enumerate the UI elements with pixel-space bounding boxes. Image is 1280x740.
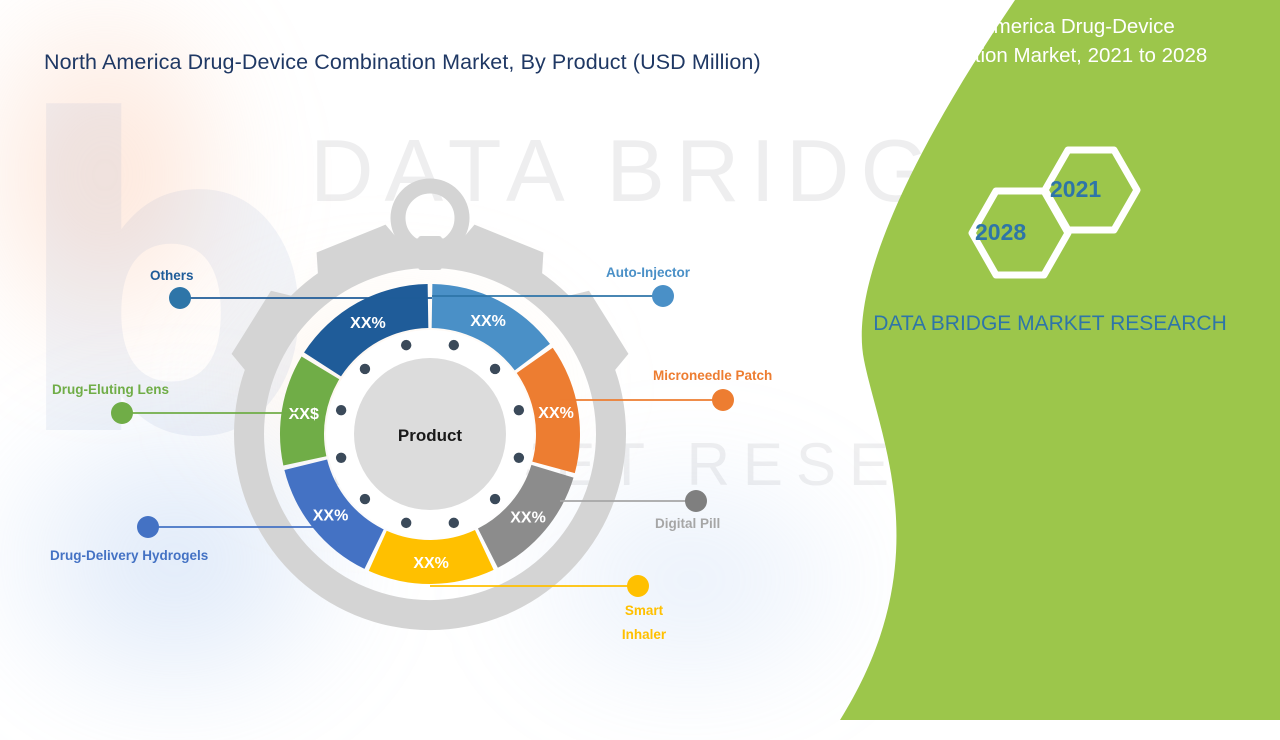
callout-label-others: Others <box>150 268 194 283</box>
segment-value-auto-injector: XX% <box>470 313 506 330</box>
donut-chart-svg: XX%XX%XX%XX%XX%XX$XX% Product <box>180 170 680 650</box>
dial-tick-dot <box>449 518 459 528</box>
dial-tick-dot <box>336 405 346 415</box>
segment-value-microneedle-patch: XX% <box>538 405 574 422</box>
callout-dot-microneedle <box>712 389 734 411</box>
callout-label-smart-inhaler-line1: Smart <box>604 603 684 618</box>
segment-value-others: XX% <box>350 315 386 332</box>
page-title: North America Drug-Device Combination Ma… <box>44 50 864 75</box>
callout-dot-digital-pill <box>685 490 707 512</box>
green-panel-title: North America Drug-Device Combination Ma… <box>870 12 1230 70</box>
segment-value-smart-inhaler: XX% <box>413 555 449 572</box>
callout-label-auto-injector: Auto-Injector <box>606 265 690 280</box>
dial-tick-dot <box>514 453 524 463</box>
hexagon-label-2021: 2021 <box>1050 176 1101 203</box>
dial-tick-dot <box>401 340 411 350</box>
dial-tick-dot <box>514 405 524 415</box>
callout-label-drug-eluting-lens: Drug-Eluting Lens <box>52 382 169 397</box>
green-panel-brand: DATA BRIDGE MARKET RESEARCH <box>870 308 1230 340</box>
dial-tick-dot <box>490 364 500 374</box>
dial-tick-dot <box>360 364 370 374</box>
callout-label-drug-delivery-hydrogels: Drug-Delivery Hydrogels <box>50 548 208 563</box>
hexagon-shapes <box>860 138 1260 288</box>
dial-tick-dot <box>336 453 346 463</box>
donut-chart: XX%XX%XX%XX%XX%XX$XX% Product <box>180 170 680 650</box>
segment-value-drug-delivery-hydrogels: XX% <box>313 508 349 525</box>
callout-dot-lens <box>111 402 133 424</box>
dial-tick-dot <box>490 494 500 504</box>
hexagon-label-2028: 2028 <box>975 219 1026 246</box>
dial-tick-dot <box>360 494 370 504</box>
segment-value-digital-pill: XX% <box>510 509 546 526</box>
dial-tick-dot <box>449 340 459 350</box>
callout-dot-hydrogels <box>137 516 159 538</box>
hexagon-group: 2021 2028 <box>860 138 1260 288</box>
green-side-panel: North America Drug-Device Combination Ma… <box>820 0 1280 720</box>
callout-label-digital-pill: Digital Pill <box>655 516 720 531</box>
dial-tick-dot <box>401 518 411 528</box>
green-panel-shape <box>820 0 1280 720</box>
callout-label-microneedle-patch: Microneedle Patch <box>653 368 772 383</box>
center-label: Product <box>398 426 463 445</box>
callout-label-smart-inhaler-line2: Inhaler <box>604 627 684 642</box>
segment-value-drug-eluting-lens: XX$ <box>289 406 319 423</box>
infographic-canvas: b DATA BRIDGE MARKET RESEARCH North Amer… <box>0 0 1280 720</box>
